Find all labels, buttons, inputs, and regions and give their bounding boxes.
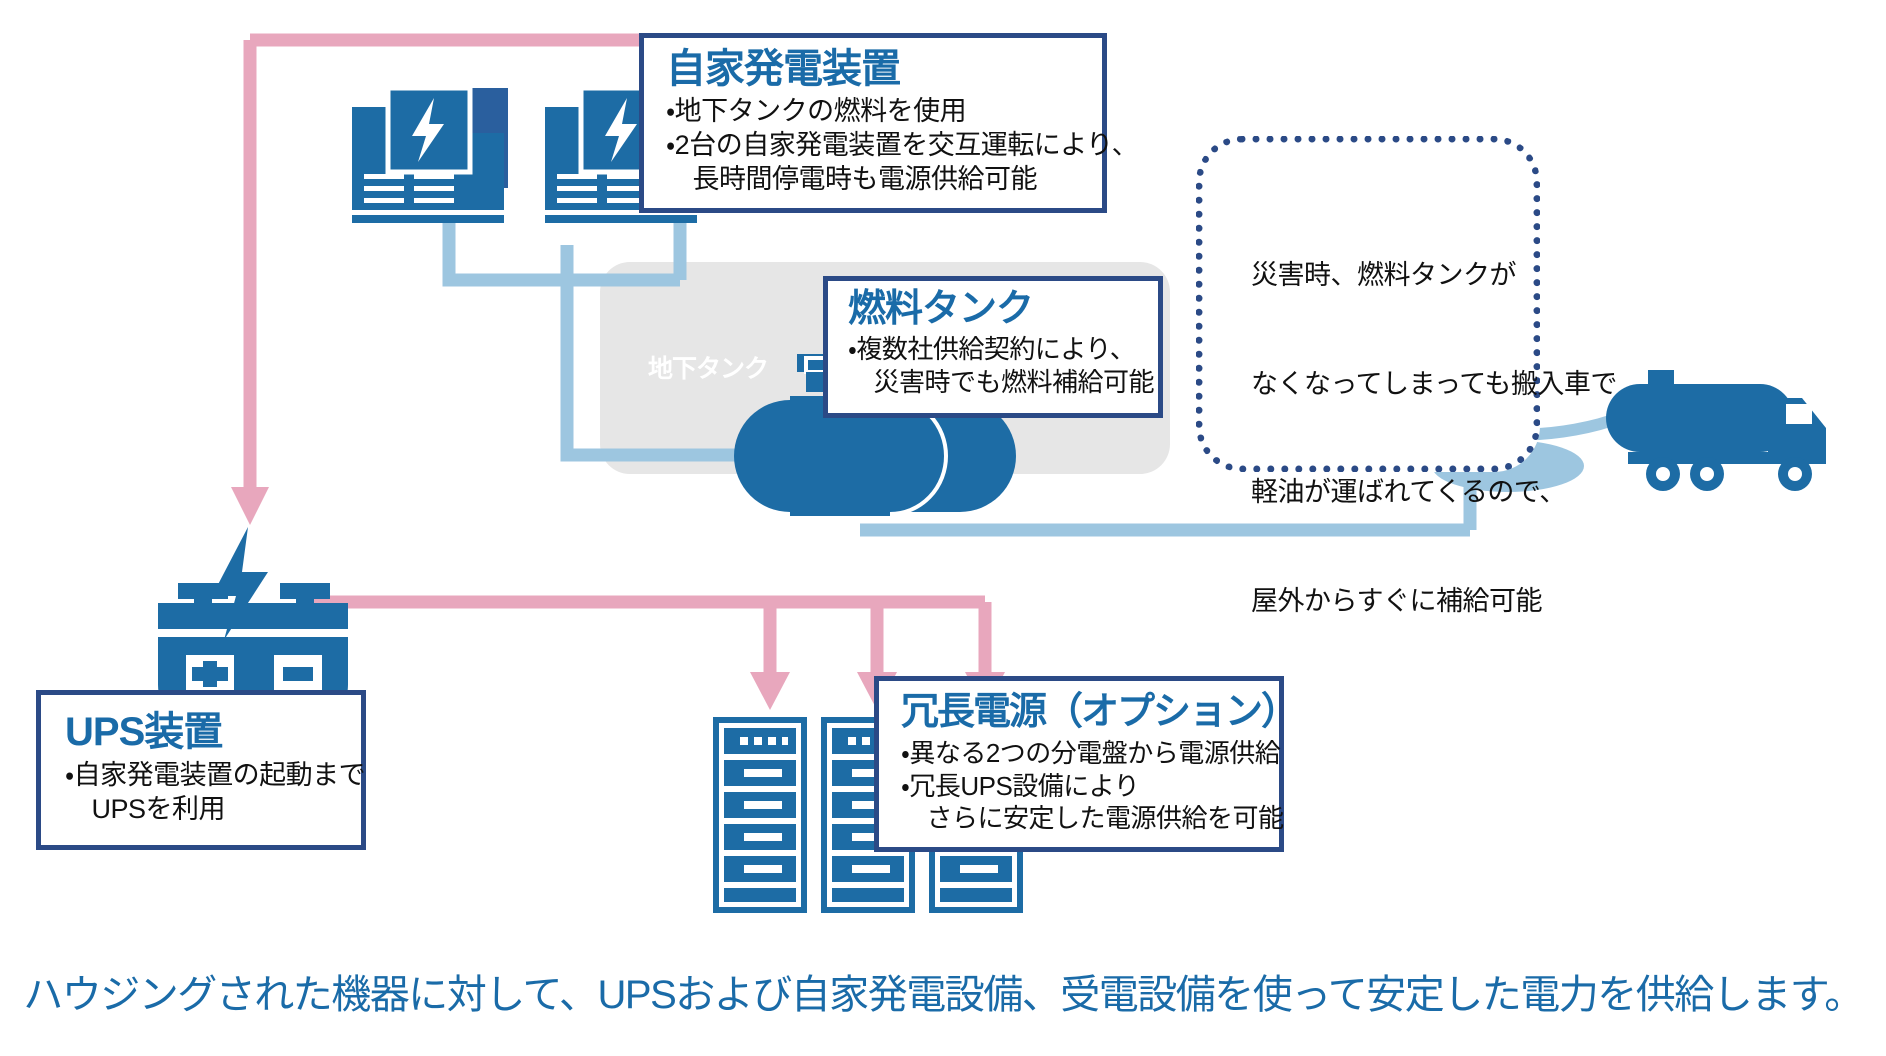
ups-info-box: UPS装置 ・自家発電装置の起動まで UPSを利用 — [36, 690, 366, 850]
callout-line-1: 災害時、燃料タンクが — [1251, 257, 1617, 293]
diagram-canvas: 自家発電装置 ・地下タンクの燃料を使用 ・2台の自家発電装置を交互運転により、 … — [0, 0, 1886, 1056]
generator-bullet-2: ・2台の自家発電装置を交互運転により、 — [666, 128, 1102, 162]
generator-title: 自家発電装置 — [666, 48, 1102, 90]
redundant-power-info-box: 冗長電源（オプション） ・異なる2つの分電盤から電源供給 ・冗長UPS設備により… — [874, 676, 1284, 852]
fuel-tank-title: 燃料タンク — [848, 290, 1158, 330]
redundant-power-bullet-1: ・異なる2つの分電盤から電源供給 — [901, 737, 1279, 770]
callout-line-2: なくなってしまっても搬入車で — [1251, 366, 1617, 402]
fuel-tank-bullet-2: 災害時でも燃料補給可能 — [848, 366, 1158, 399]
generator-bullet-1: ・地下タンクの燃料を使用 — [666, 94, 1102, 128]
ups-bullet-2: UPSを利用 — [65, 792, 361, 826]
redundant-power-bullet-2: ・冗長UPS設備により — [901, 770, 1279, 803]
callout-line-4: 屋外からすぐに補給可能 — [1251, 583, 1617, 619]
disaster-supply-callout: 災害時、燃料タンクが なくなってしまっても搬入車で 軽油が運ばれてくるので、 屋… — [1196, 136, 1540, 472]
ups-title: UPS装置 — [65, 711, 361, 753]
ups-bullet-1: ・自家発電装置の起動まで — [65, 758, 361, 792]
redundant-power-bullets: ・異なる2つの分電盤から電源供給 ・冗長UPS設備により さらに安定した電源供給… — [901, 737, 1279, 835]
generator-icon — [348, 88, 508, 223]
server-rack-icon — [716, 720, 804, 910]
callout-text: 災害時、燃料タンクが なくなってしまっても搬入車で 軽油が運ばれてくるので、 屋… — [1251, 185, 1617, 691]
generator-info-box: 自家発電装置 ・地下タンクの燃料を使用 ・2台の自家発電装置を交互運転により、 … — [639, 33, 1107, 213]
fuel-tank-bullets: ・複数社供給契約により、 災害時でも燃料補給可能 — [848, 333, 1158, 399]
fuel-tank-bullet-1: ・複数社供給契約により、 — [848, 333, 1158, 366]
fuel-tank-info-box: 燃料タンク ・複数社供給契約により、 災害時でも燃料補給可能 — [823, 276, 1163, 418]
callout-line-3: 軽油が運ばれてくるので、 — [1251, 474, 1617, 510]
generator-bullet-3: 長時間停電時も電源供給可能 — [666, 162, 1102, 196]
summary-caption: ハウジングされた機器に対して、UPSおよび自家発電設備、受電設備を使って安定した… — [0, 962, 1886, 1020]
redundant-power-bullet-3: さらに安定した電源供給を可能 — [901, 802, 1279, 835]
ups-bullets: ・自家発電装置の起動まで UPSを利用 — [65, 758, 361, 826]
underground-tank-label: 地下タンク — [648, 349, 768, 385]
redundant-power-title: 冗長電源（オプション） — [901, 693, 1279, 733]
generator-bullets: ・地下タンクの燃料を使用 ・2台の自家発電装置を交互運転により、 長時間停電時も… — [666, 94, 1102, 196]
